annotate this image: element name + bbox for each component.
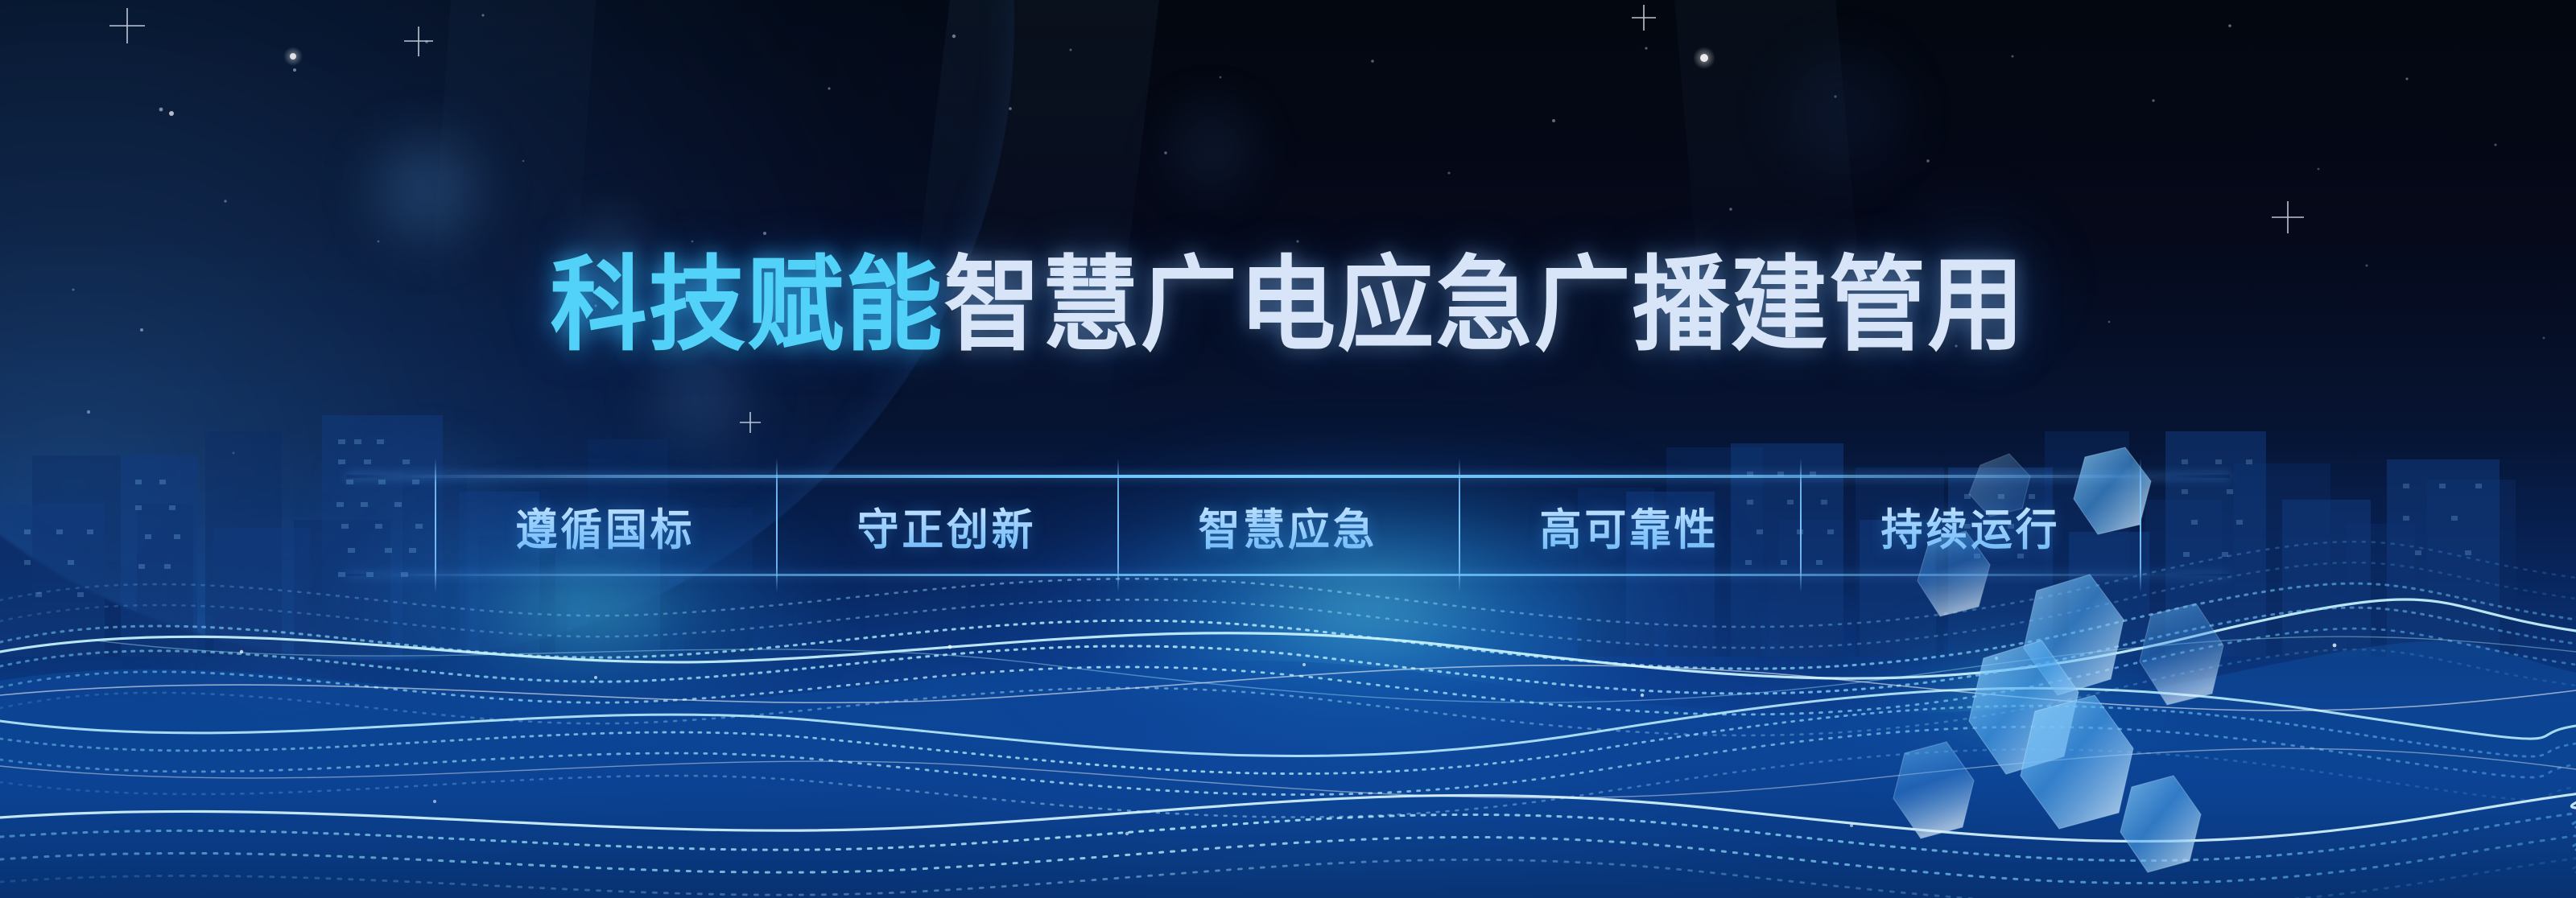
- banner-content: 科技赋能智慧广电应急广播建管用 遵循国标 守正创新 智慧应急 高可靠性 持续运行: [0, 0, 2576, 898]
- keyword-item-2[interactable]: 智慧应急: [1117, 476, 1459, 575]
- page-title: 科技赋能智慧广电应急广播建管用: [550, 254, 2025, 357]
- keyword-item-1[interactable]: 守正创新: [776, 476, 1117, 575]
- keyword-label: 高可靠性: [1540, 494, 1719, 558]
- keyword-label: 智慧应急: [1199, 494, 1378, 558]
- keyword-item-3[interactable]: 高可靠性: [1459, 476, 1800, 575]
- keyword-label: 持续运行: [1881, 494, 2061, 558]
- keyword-strip: 遵循国标 守正创新 智慧应急 高可靠性 持续运行: [435, 476, 2141, 575]
- keyword-label: 遵循国标: [516, 494, 696, 558]
- hero-banner: 科技赋能智慧广电应急广播建管用 遵循国标 守正创新 智慧应急 高可靠性 持续运行: [0, 0, 2576, 898]
- title-wrap: 科技赋能智慧广电应急广播建管用: [503, 254, 2073, 357]
- keyword-item-4[interactable]: 持续运行: [1800, 476, 2141, 575]
- keyword-label: 守正创新: [857, 494, 1037, 558]
- keyword-item-0[interactable]: 遵循国标: [435, 476, 776, 575]
- page-title-plain: 智慧广电应急广播建管用: [943, 245, 2025, 365]
- page-title-accent: 科技赋能: [550, 245, 943, 365]
